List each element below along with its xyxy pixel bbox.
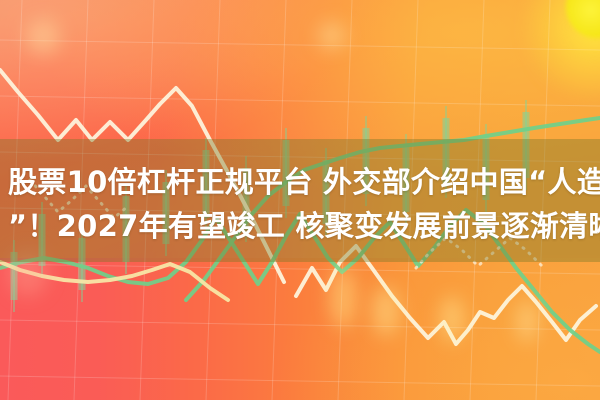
grid-line-horizontal	[0, 376, 600, 386]
headline-text: 股票10倍杠杆正规平台 外交部介绍中国“人造太阳 ”！2027年有望竣工 核聚变…	[0, 160, 600, 248]
grid-line-horizontal	[0, 96, 600, 106]
headline-line-2: ”！2027年有望竣工 核聚变发展前景逐渐清晰	[8, 204, 592, 248]
grid-line-horizontal	[0, 320, 600, 330]
banner-image: 股票10倍杠杆正规平台 外交部介绍中国“人造太阳 ”！2027年有望竣工 核聚变…	[0, 0, 600, 400]
headline-line-1: 股票10倍杠杆正规平台 外交部介绍中国“人造太阳	[8, 160, 592, 204]
grid-line-horizontal	[0, 40, 600, 50]
